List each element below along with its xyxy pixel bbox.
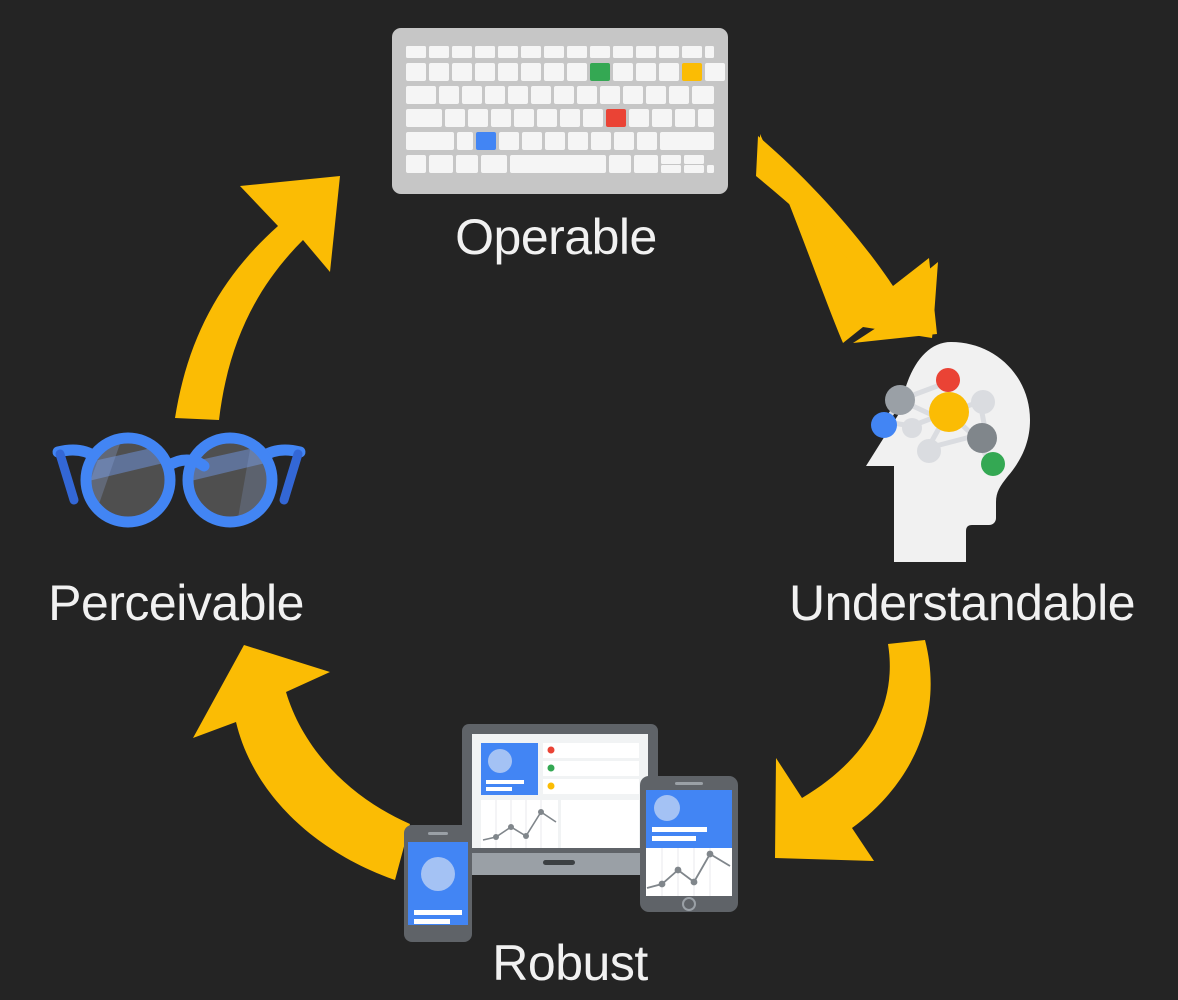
node-perceivable bbox=[52, 424, 306, 534]
node-robust bbox=[400, 712, 760, 942]
label-robust: Robust bbox=[492, 938, 647, 988]
node-gray-large bbox=[885, 385, 915, 415]
arrow-understandable-to-robust bbox=[775, 640, 931, 861]
head-brain-network-icon bbox=[856, 340, 1036, 562]
node-understandable bbox=[856, 340, 1036, 562]
glasses-icon bbox=[52, 424, 306, 534]
node-gray-dark bbox=[967, 423, 997, 453]
key-blue bbox=[476, 132, 496, 150]
node-light-small bbox=[902, 418, 922, 438]
node-light-right bbox=[971, 390, 995, 414]
label-understandable: Understandable bbox=[789, 578, 1135, 628]
keyboard-icon bbox=[392, 28, 728, 194]
node-light-bottom bbox=[917, 439, 941, 463]
key-yellow bbox=[682, 63, 702, 81]
arrow-operable-to-understandable bbox=[760, 134, 938, 343]
key-red bbox=[606, 109, 626, 127]
node-red bbox=[936, 368, 960, 392]
label-perceivable: Perceivable bbox=[48, 578, 304, 628]
label-operable: Operable bbox=[455, 212, 657, 262]
diagram-canvas: Operable bbox=[0, 0, 1178, 1000]
multi-device-icon bbox=[400, 712, 760, 942]
node-operable bbox=[392, 28, 728, 194]
arrow-robust-to-perceivable bbox=[193, 645, 410, 880]
node-green bbox=[981, 452, 1005, 476]
arrow-operable-to-understandable-head bbox=[756, 136, 937, 343]
key-green bbox=[590, 63, 610, 81]
laptop bbox=[455, 724, 665, 875]
node-yellow-large bbox=[929, 392, 969, 432]
phone bbox=[404, 825, 472, 942]
tablet bbox=[640, 776, 738, 912]
node-blue bbox=[871, 412, 897, 438]
arrow-perceivable-to-operable bbox=[175, 176, 340, 420]
